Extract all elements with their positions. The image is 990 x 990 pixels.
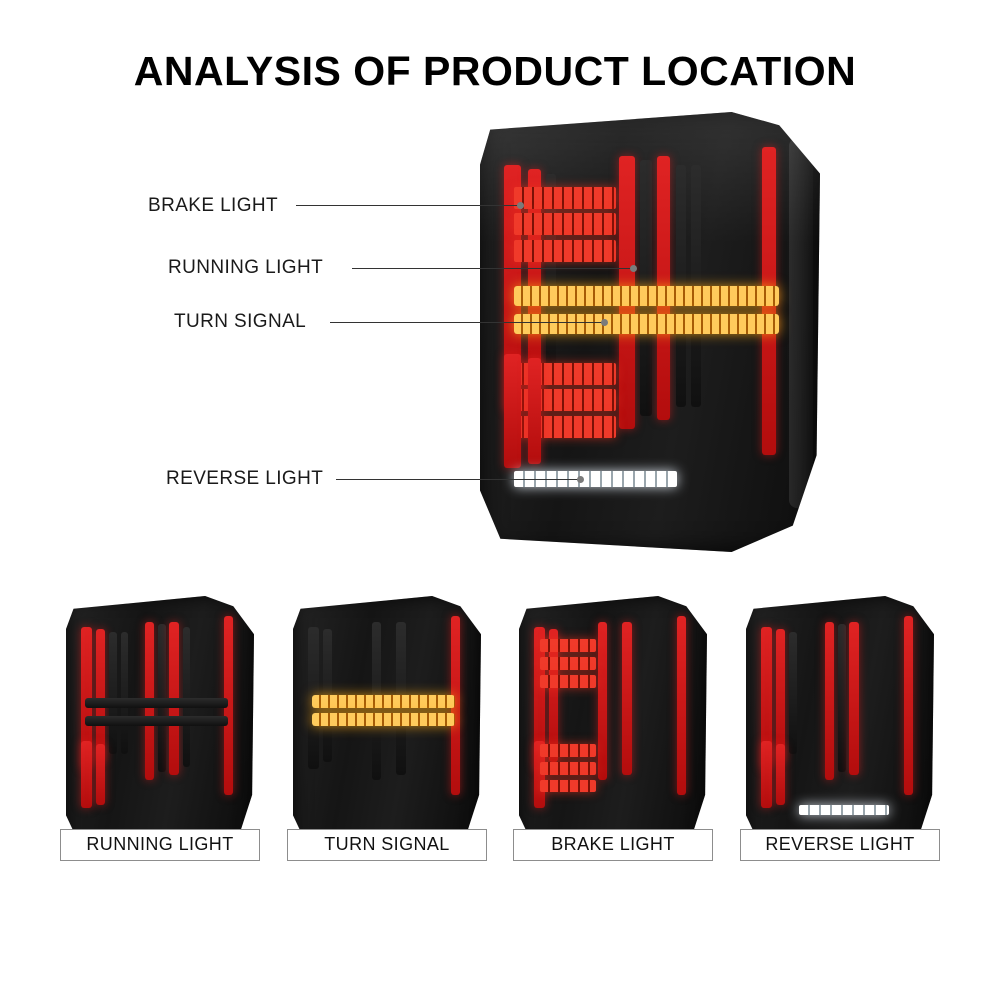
variant-thumbnails: RUNNING LIGHT TURN SIGNAL: [60, 596, 940, 936]
callout-turn-signal: TURN SIGNAL: [174, 311, 306, 333]
leader-line-reverse: [336, 479, 581, 480]
thumb-lamp-housing: [293, 596, 481, 851]
leader-line-running: [352, 268, 634, 269]
red-bar: [776, 744, 785, 805]
page-title: ANALYSIS OF PRODUCT LOCATION: [0, 48, 990, 95]
brake-segment: [540, 780, 596, 793]
callout-reverse-light: REVERSE LIGHT: [166, 468, 323, 490]
leader-line-turn: [330, 322, 605, 323]
thumb-caption: RUNNING LIGHT: [60, 829, 260, 861]
red-bar: [96, 744, 105, 805]
callout-brake-light: BRAKE LIGHT: [148, 195, 278, 217]
thumbnail-reverse-light[interactable]: REVERSE LIGHT: [740, 596, 940, 861]
red-bar: [677, 616, 686, 795]
brake-segment: [514, 240, 616, 262]
red-bar: [761, 741, 772, 807]
dark-bar: [121, 632, 129, 754]
dark-bar: [183, 627, 191, 767]
dark-bar: [109, 632, 117, 754]
red-bar: [825, 622, 834, 780]
lamp-housing: [480, 112, 820, 552]
red-bar: [776, 629, 785, 762]
thumb-caption: BRAKE LIGHT: [513, 829, 713, 861]
red-bar: [96, 629, 105, 762]
red-bar: [904, 616, 913, 795]
red-bar: [528, 358, 542, 464]
dark-bar: [789, 632, 797, 754]
leader-dot-reverse: [577, 476, 584, 483]
brake-segment: [540, 762, 596, 775]
brake-segment: [540, 657, 596, 670]
leader-dot-running: [630, 265, 637, 272]
turn-signal-strip: [312, 713, 455, 726]
leader-dot-brake: [517, 202, 524, 209]
brake-segment: [540, 639, 596, 652]
thumbnail-running-light[interactable]: RUNNING LIGHT: [60, 596, 260, 861]
brake-segment: [514, 187, 616, 209]
lens-edge: [789, 138, 813, 508]
leader-dot-turn: [601, 319, 608, 326]
thumb-lamp-housing: [519, 596, 707, 851]
callout-running-light: RUNNING LIGHT: [168, 257, 323, 279]
brake-segment: [540, 744, 596, 757]
thumb-lamp-housing: [746, 596, 934, 851]
red-bar: [622, 622, 631, 775]
dark-strip: [85, 716, 228, 726]
thumb-lamp-housing: [66, 596, 254, 851]
red-bar: [81, 741, 92, 807]
turn-signal-strip: [312, 695, 455, 708]
brake-segment: [514, 213, 616, 235]
thumb-caption: TURN SIGNAL: [287, 829, 487, 861]
red-bar: [849, 622, 858, 775]
leader-line-brake: [296, 205, 521, 206]
brake-segment: [540, 675, 596, 688]
product-infographic: ANALYSIS OF PRODUCT LOCATION: [0, 0, 990, 990]
thumbnail-brake-light[interactable]: BRAKE LIGHT: [513, 596, 713, 861]
dark-strip: [85, 698, 228, 708]
thumbnail-turn-signal[interactable]: TURN SIGNAL: [287, 596, 487, 861]
turn-signal-strip: [514, 286, 779, 306]
thumb-caption: REVERSE LIGHT: [740, 829, 940, 861]
dark-bar: [838, 624, 846, 772]
main-product-image: [480, 112, 820, 552]
red-bar: [504, 354, 521, 468]
turn-signal-strip: [514, 314, 779, 334]
reverse-light-strip: [799, 805, 889, 815]
red-bar: [598, 622, 607, 780]
